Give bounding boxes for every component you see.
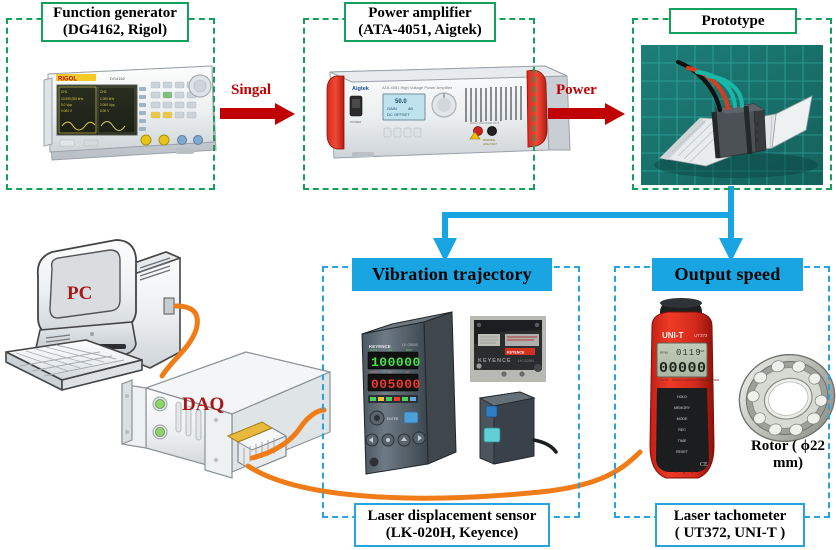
pc-label: PC bbox=[67, 283, 92, 305]
caption-function-generator-line1: Function generator bbox=[53, 5, 177, 22]
cable-daq-to-vibration-sensor bbox=[252, 410, 324, 458]
caption-laser-displacement-sensor-line2: (LK-020H, Keyence) bbox=[368, 525, 537, 542]
caption-prototype-line1: Prototype bbox=[701, 13, 764, 30]
arrow-shaft-singal bbox=[220, 108, 276, 119]
branch-arrow-connector bbox=[445, 186, 731, 238]
caption-power-amplifier-line1: Power amplifier bbox=[358, 5, 482, 22]
cable-pc-to-daq bbox=[162, 306, 197, 376]
caption-laser-tachometer-line2: ( UT372, UNI-T ) bbox=[674, 525, 787, 542]
arrow-label-power: Power bbox=[556, 82, 597, 99]
caption-power-amplifier-line2: (ATA-4051, Aigtek) bbox=[358, 22, 482, 39]
daq-label: DAQ bbox=[182, 394, 224, 416]
pc-image bbox=[6, 240, 180, 390]
diagram-canvas: RIGOL DG4162 CH1CH2 10.000,000 kHz1.000 … bbox=[0, 0, 836, 550]
arrow-shaft-power bbox=[548, 108, 606, 119]
caption-laser-tachometer-line1: Laser tachometer bbox=[674, 508, 787, 525]
rotor-label-line1: Rotor bbox=[751, 438, 788, 454]
rotor-label: Rotor ( ϕ22 mm) bbox=[740, 438, 836, 473]
panel-function-generator bbox=[6, 18, 215, 190]
arrow-head-power bbox=[605, 103, 625, 125]
arrow-head-singal bbox=[275, 103, 295, 125]
caption-power-amplifier: Power amplifier (ATA-4051, Aigtek) bbox=[344, 2, 496, 42]
caption-laser-displacement-sensor: Laser displacement sensor (LK-020H, Keye… bbox=[354, 503, 550, 547]
caption-laser-tachometer: Laser tachometer ( UT372, UNI-T ) bbox=[655, 503, 805, 547]
caption-laser-displacement-sensor-line1: Laser displacement sensor bbox=[368, 508, 537, 525]
panel-prototype bbox=[632, 18, 832, 190]
panel-power-amplifier bbox=[303, 18, 535, 190]
caption-function-generator-line2: (DG4162, Rigol) bbox=[53, 22, 177, 39]
arrow-label-singal: Singal bbox=[231, 82, 271, 99]
titlebar-output-speed: Output speed bbox=[652, 258, 803, 291]
panel-output-speed bbox=[614, 266, 830, 518]
panel-vibration-trajectory bbox=[322, 266, 580, 518]
caption-function-generator: Function generator (DG4162, Rigol) bbox=[41, 2, 189, 42]
titlebar-vibration-trajectory: Vibration trajectory bbox=[352, 258, 552, 291]
caption-prototype: Prototype bbox=[669, 8, 797, 34]
daq-image bbox=[122, 352, 330, 478]
